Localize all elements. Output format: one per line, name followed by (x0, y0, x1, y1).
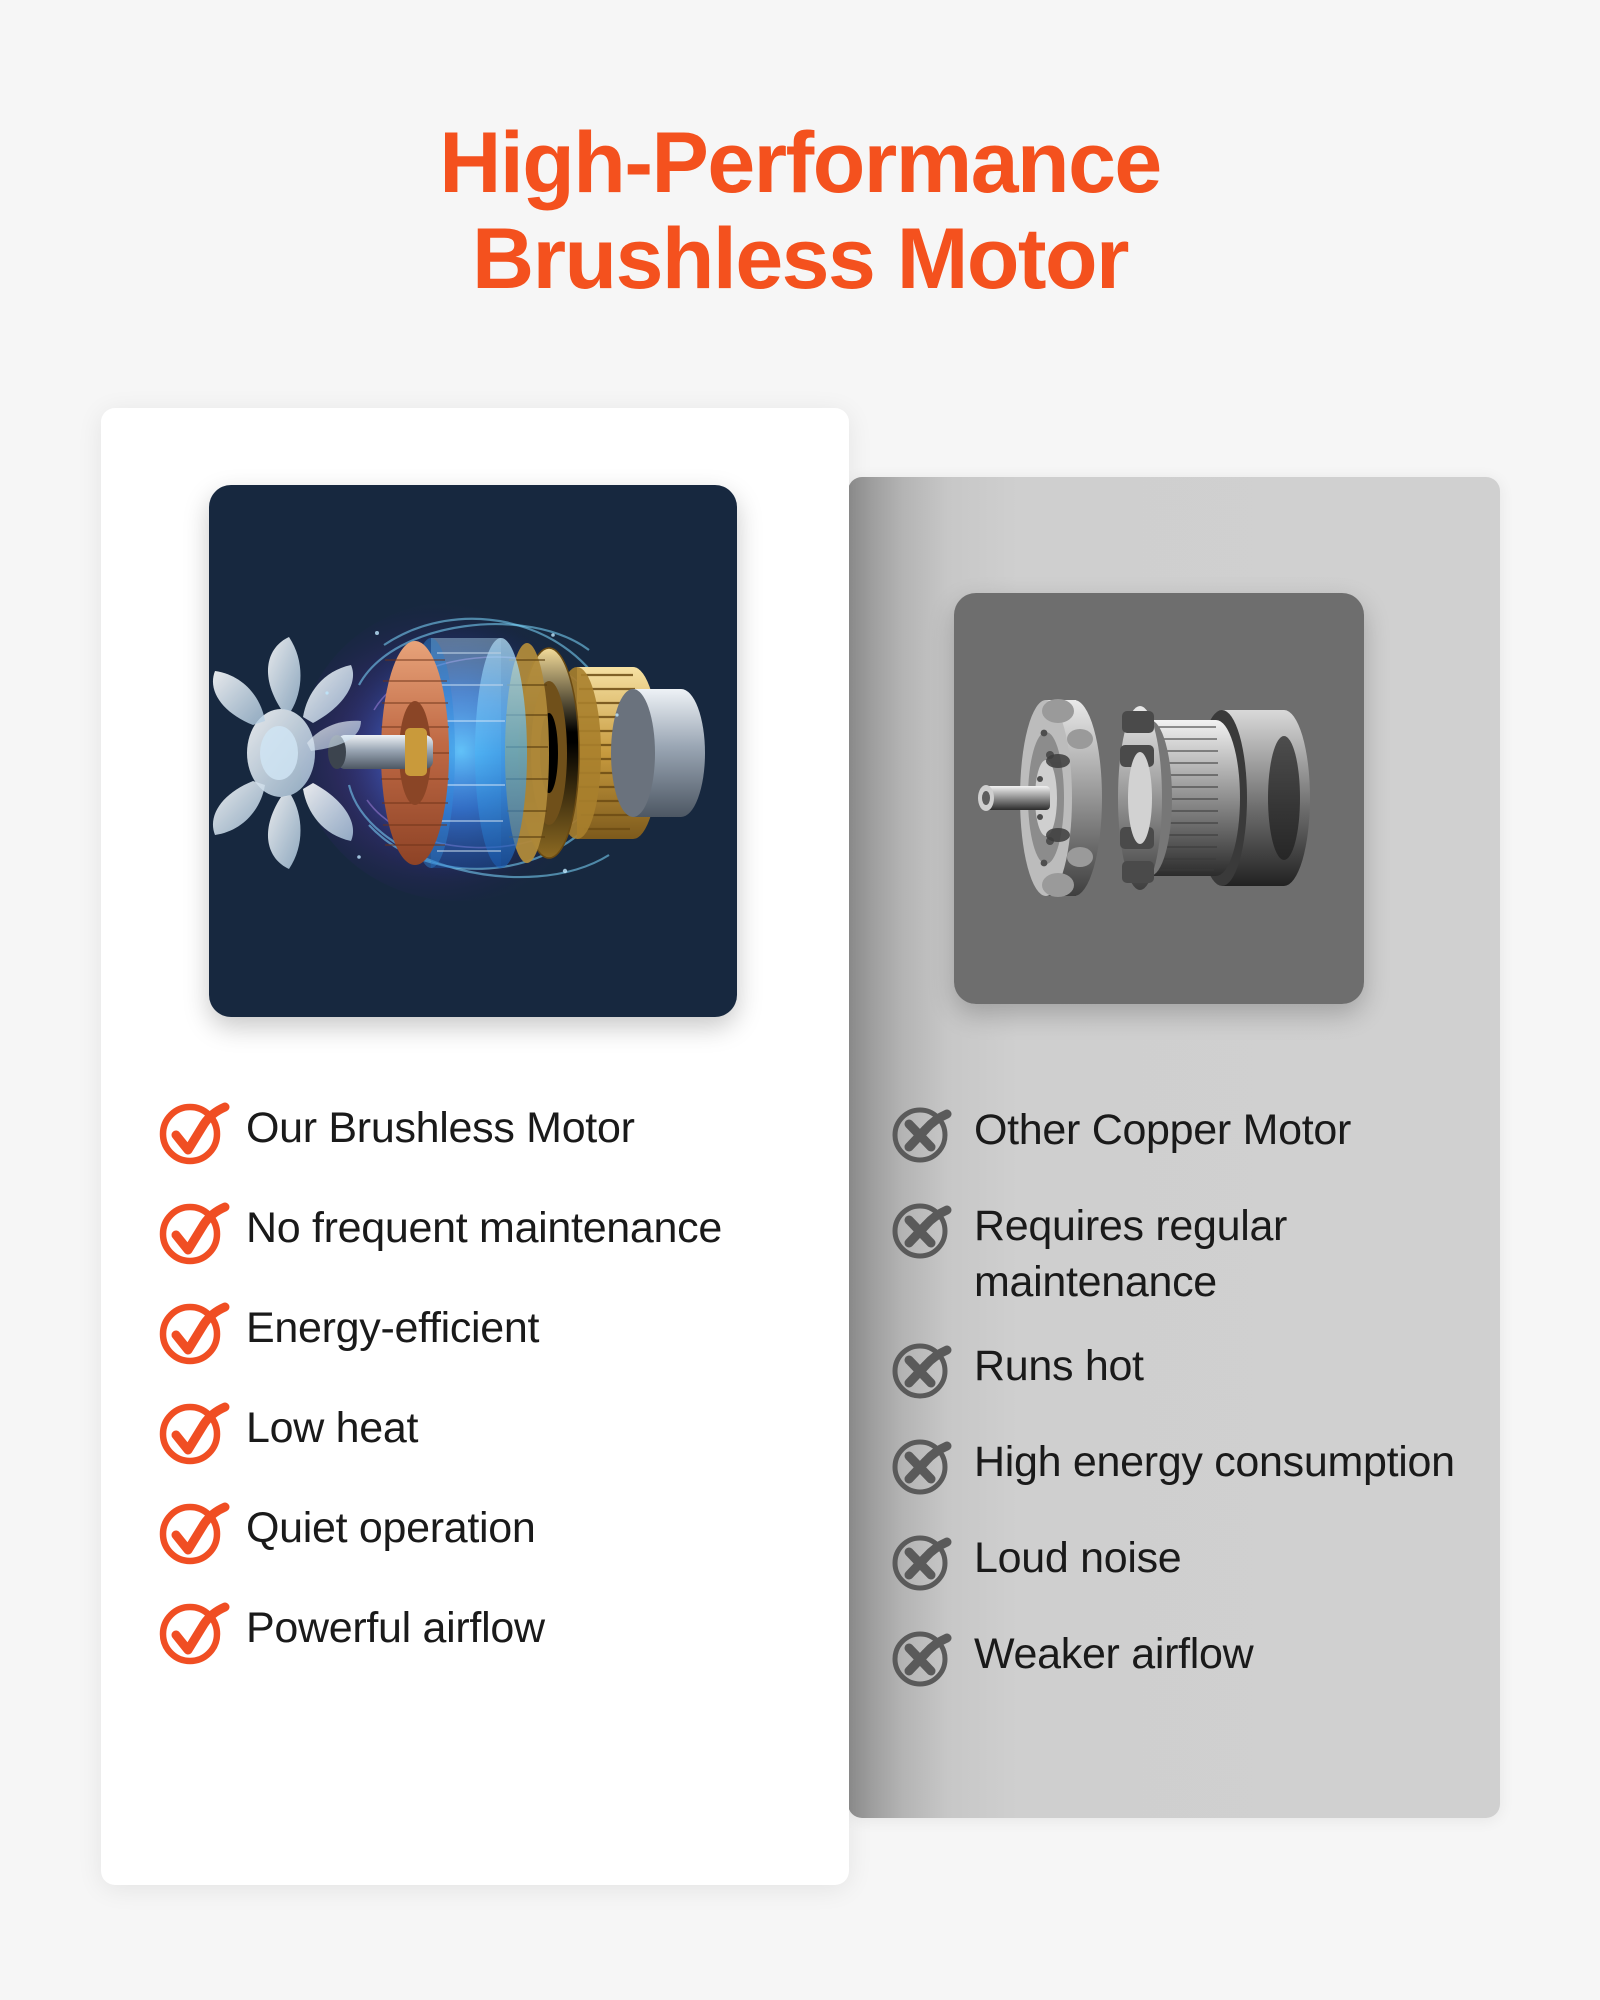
list-item-label: Requires regular maintenance (974, 1194, 1394, 1310)
list-item: Loud noise (884, 1526, 1484, 1598)
list-item-label: High energy consumption (974, 1430, 1455, 1490)
x-circle-icon (884, 1098, 972, 1170)
list-item-label: Runs hot (974, 1334, 1144, 1394)
list-item-label: Low heat (246, 1396, 418, 1456)
list-item: Low heat (152, 1396, 812, 1468)
list-item: Weaker airflow (884, 1622, 1484, 1694)
list-item: Our Brushless Motor (152, 1096, 812, 1168)
x-circle-icon (884, 1334, 972, 1406)
list-item-label: No frequent maintenance (246, 1196, 722, 1256)
brushless-motor-illustration (209, 485, 737, 1017)
list-item-label: Loud noise (974, 1526, 1181, 1586)
check-circle-icon (152, 1296, 240, 1368)
x-circle-icon (884, 1622, 972, 1694)
check-circle-icon (152, 1496, 240, 1568)
brushless-motor-image (209, 485, 737, 1017)
page-title: High-Performance Brushless Motor (0, 115, 1600, 308)
page-title-line-2: Brushless Motor (0, 211, 1600, 307)
list-item: Energy-efficient (152, 1296, 812, 1368)
list-item-label: Energy-efficient (246, 1296, 539, 1356)
list-item: Other Copper Motor (884, 1098, 1484, 1170)
list-item: Requires regular maintenance (884, 1194, 1484, 1310)
copper-motor-image (954, 593, 1364, 1004)
x-circle-icon (884, 1526, 972, 1598)
list-item: Runs hot (884, 1334, 1484, 1406)
page-root: High-Performance Brushless Motor (0, 0, 1600, 2000)
check-circle-icon (152, 1596, 240, 1668)
list-item-label: Powerful airflow (246, 1596, 545, 1656)
copper-motor-illustration (954, 593, 1364, 1004)
x-circle-icon (884, 1430, 972, 1502)
list-item: Powerful airflow (152, 1596, 812, 1668)
check-circle-icon (152, 1096, 240, 1168)
list-item-label: Other Copper Motor (974, 1098, 1351, 1158)
x-circle-icon (884, 1194, 972, 1266)
list-item: No frequent maintenance (152, 1196, 812, 1268)
list-item: Quiet operation (152, 1496, 812, 1568)
list-item-label: Weaker airflow (974, 1622, 1253, 1682)
list-item: High energy consumption (884, 1430, 1484, 1502)
list-item-label: Quiet operation (246, 1496, 536, 1556)
list-item-label: Our Brushless Motor (246, 1096, 635, 1156)
check-circle-icon (152, 1196, 240, 1268)
check-circle-icon (152, 1396, 240, 1468)
drawbacks-list-other: Other Copper Motor Requires regular main… (884, 1098, 1484, 1694)
benefits-list-ours: Our Brushless Motor No frequent maintena… (152, 1096, 812, 1668)
page-title-line-1: High-Performance (0, 115, 1600, 211)
